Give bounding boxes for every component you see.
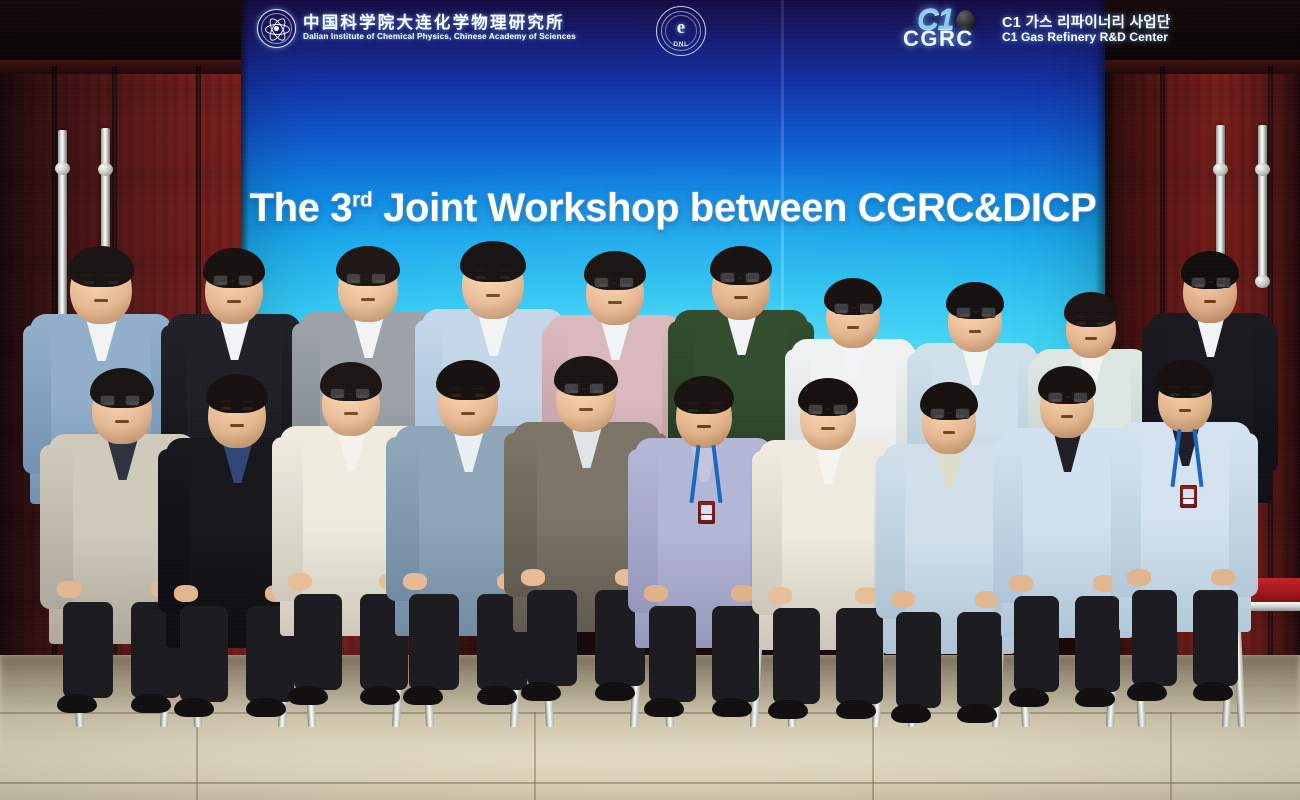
shoe <box>174 698 214 717</box>
shoe <box>712 698 752 717</box>
shoe <box>768 700 808 719</box>
shoe <box>521 682 561 701</box>
hand <box>1211 569 1235 586</box>
badge-name-strip <box>1183 499 1194 504</box>
eyeglasses-icon <box>720 272 760 283</box>
hand <box>1009 575 1033 592</box>
eye <box>1191 393 1200 396</box>
leg <box>836 608 883 704</box>
mouth <box>579 408 593 411</box>
eyeglasses-icon <box>330 388 370 399</box>
leg <box>1014 596 1059 692</box>
eyeglass-bridge <box>1066 396 1070 398</box>
hand <box>57 581 81 598</box>
hand <box>174 585 198 602</box>
hand <box>521 569 545 586</box>
leg <box>409 594 459 690</box>
door-lintel-left <box>0 60 241 74</box>
workshop-title-suffix: Joint Workshop between CGRC&DICP <box>373 186 1097 230</box>
atom-orbit-icon <box>265 24 290 35</box>
hand <box>768 587 792 604</box>
eyebrow <box>709 402 721 405</box>
eyeglass-bridge <box>582 388 586 390</box>
eyeglass-lens <box>1191 277 1206 288</box>
leg <box>1132 590 1177 686</box>
hand <box>403 573 427 590</box>
eyeglass-lens <box>1073 392 1088 403</box>
eyeglass-bridge <box>948 412 952 414</box>
hand <box>1127 569 1151 586</box>
shoe <box>288 686 328 705</box>
badge-name-strip <box>701 515 712 520</box>
cgrc-logo: C1 CGRC C1 가스 리파이너리 사업단 C1 Gas Refinery … <box>901 4 1171 56</box>
banner-logo-row: 中国科学院大连化学物理研究所 Dalian Institute of Chemi… <box>241 4 1105 56</box>
cgrc-c1-emblem-icon: C1 CGRC <box>901 4 996 56</box>
eyeglass-bridge <box>364 278 368 280</box>
upper-wall-band-left <box>0 0 241 66</box>
eyeglass-lens <box>346 273 361 284</box>
eyeglass-lens <box>745 272 760 283</box>
hand <box>891 591 915 608</box>
dnl-monogram: e <box>656 17 706 39</box>
eyeglasses-icon <box>346 273 386 284</box>
eyebrow <box>242 400 254 403</box>
eyeglass-bridge <box>118 400 122 402</box>
eyebrow <box>450 387 463 390</box>
leg <box>773 608 820 704</box>
dicp-chinese-name: 中国科学院大连化学物理研究所 <box>303 15 576 33</box>
leg <box>63 602 113 698</box>
door-handle-knob <box>1213 163 1228 176</box>
workshop-title-prefix: The 3 <box>250 186 352 230</box>
mouth <box>115 420 129 423</box>
eyeglasses-icon <box>956 307 996 318</box>
mouth <box>361 298 375 301</box>
eyeglasses-icon <box>1048 392 1088 403</box>
shoe <box>1193 682 1233 701</box>
badge-photo <box>1183 489 1194 498</box>
mouth <box>486 294 501 297</box>
door-handle-knob <box>1255 163 1270 176</box>
eyeglasses-icon <box>1191 277 1231 288</box>
badge-photo <box>701 505 712 514</box>
cgrc-korean-name: C1 가스 리파이너리 사업단 <box>1002 15 1171 31</box>
eyeglasses-icon <box>100 395 140 406</box>
leg <box>957 612 1002 708</box>
shoe <box>246 698 286 717</box>
mouth <box>697 425 710 428</box>
shoe <box>477 686 517 705</box>
eyeglasses-icon <box>594 277 634 288</box>
eyeglass-lens <box>956 307 971 318</box>
eyeglass-lens <box>564 383 579 394</box>
eyeglass-lens <box>330 388 345 399</box>
eyeglass-lens <box>619 277 634 288</box>
eyeglass-bridge <box>1209 281 1213 283</box>
eyeglass-bridge <box>852 307 856 309</box>
dnl-abbreviation: DNL <box>656 41 706 48</box>
eye <box>221 407 231 410</box>
dicp-atom-emblem-icon <box>257 9 296 48</box>
eyeglass-lens <box>125 395 140 406</box>
eyeglass-lens <box>930 408 945 419</box>
shoe <box>1127 682 1167 701</box>
eyebrow <box>1096 315 1107 318</box>
eye <box>710 409 720 412</box>
mouth <box>227 300 241 303</box>
dicp-english-name: Dalian Institute of Chemical Physics, Ch… <box>303 33 576 42</box>
id-badge <box>698 501 715 524</box>
shoe <box>1009 688 1049 707</box>
shoe <box>1075 688 1115 707</box>
atom-orbit-icon <box>266 16 288 43</box>
eyeglass-bridge <box>348 393 352 395</box>
eyeglass-lens <box>1216 277 1231 288</box>
mouth <box>608 301 622 304</box>
eyeglass-bridge <box>826 408 830 410</box>
eye <box>476 276 487 279</box>
mouth <box>230 424 244 427</box>
leg <box>1193 590 1238 686</box>
eyebrow <box>473 387 486 390</box>
eyeglass-lens <box>594 277 609 288</box>
eyebrow <box>107 274 120 277</box>
eyeglasses-icon <box>808 404 848 415</box>
eyeglass-bridge <box>612 282 616 284</box>
eyebrow <box>1076 315 1087 318</box>
mouth <box>1179 409 1192 412</box>
mouth <box>1204 300 1217 303</box>
eyeglass-lens <box>213 275 228 286</box>
eyeglass-lens <box>808 404 823 415</box>
hand <box>644 585 668 602</box>
eyeglass-lens <box>955 408 970 419</box>
eyeglass-lens <box>589 383 604 394</box>
leg <box>712 606 759 702</box>
mouth <box>821 427 834 430</box>
eye <box>1077 322 1086 325</box>
shoe <box>644 698 684 717</box>
eye <box>84 281 95 284</box>
leg <box>1075 596 1120 692</box>
shoe <box>57 694 97 713</box>
shoe <box>360 686 400 705</box>
shoe <box>836 700 876 719</box>
eyeglass-lens <box>834 303 849 314</box>
eyeglass-lens <box>238 275 253 286</box>
mouth <box>1061 415 1074 418</box>
leg <box>180 606 228 702</box>
floor-grout-line <box>0 782 1300 784</box>
eye <box>451 394 461 397</box>
eyeglasses-icon <box>834 303 874 314</box>
id-badge <box>1180 485 1197 508</box>
floor-grout-line <box>534 712 536 800</box>
door-handle-right-b[interactable] <box>1258 125 1267 280</box>
eyebrow <box>220 400 232 403</box>
mouth <box>344 412 358 415</box>
eye <box>475 394 485 397</box>
shoe <box>891 704 931 723</box>
eyebrow <box>1190 386 1201 389</box>
cgrc-english-name: C1 Gas Refinery R&D Center <box>1002 31 1171 44</box>
eyeglass-bridge <box>974 311 978 313</box>
hair <box>1064 292 1118 327</box>
hand <box>288 573 312 590</box>
eyeglasses-icon <box>930 408 970 419</box>
cgrc-wordmark: CGRC <box>903 26 974 52</box>
eye <box>243 407 253 410</box>
mouth <box>734 296 748 299</box>
workshop-title-ordinal: rd <box>352 189 372 212</box>
door-handle-knob <box>1255 275 1270 288</box>
eyeglass-lens <box>720 272 735 283</box>
eye <box>500 276 511 279</box>
eye <box>108 281 119 284</box>
dicp-logo: 中国科学院大连化学物理研究所 Dalian Institute of Chemi… <box>257 9 576 48</box>
eyebrow <box>1169 386 1180 389</box>
eyebrow <box>499 269 512 272</box>
eyeglass-bridge <box>738 277 742 279</box>
group-photo: 中国科学院大连化学物理研究所 Dalian Institute of Chemi… <box>0 0 1300 800</box>
eye <box>688 409 698 412</box>
dnl-logo: e DNL <box>656 6 706 56</box>
workshop-title: The 3rd Joint Workshop between CGRC&DICP <box>241 186 1105 231</box>
eyeglass-lens <box>371 273 386 284</box>
shoe <box>131 694 171 713</box>
mouth <box>943 431 956 434</box>
shoe <box>403 686 443 705</box>
eyeglasses-icon <box>213 275 253 286</box>
mouth <box>847 326 860 329</box>
door-handle-right-a[interactable] <box>1216 125 1225 255</box>
eyeglasses-icon <box>564 383 604 394</box>
eyeglass-lens <box>1048 392 1063 403</box>
leg <box>527 590 577 686</box>
atom-orbit-icon <box>266 16 288 43</box>
eye <box>1170 393 1179 396</box>
eyeglass-lens <box>859 303 874 314</box>
door-handle-knob <box>98 163 113 176</box>
eyeglass-bridge <box>231 280 235 282</box>
mouth <box>1085 337 1097 340</box>
eye <box>1097 322 1106 325</box>
eyeglass-lens <box>100 395 115 406</box>
shoe <box>957 704 997 723</box>
eyebrow <box>687 402 699 405</box>
mouth <box>94 299 109 302</box>
leg <box>649 606 696 702</box>
shoe <box>595 682 635 701</box>
leg <box>294 594 342 690</box>
mouth <box>969 330 982 333</box>
mouth <box>461 412 475 415</box>
door-handle-knob <box>55 162 70 175</box>
eyeglass-lens <box>981 307 996 318</box>
eyebrow <box>474 269 487 272</box>
eyeglass-lens <box>355 388 370 399</box>
eyebrow <box>82 274 95 277</box>
atom-nucleus-icon <box>274 26 279 31</box>
leg <box>896 612 941 708</box>
eyeglass-lens <box>833 404 848 415</box>
